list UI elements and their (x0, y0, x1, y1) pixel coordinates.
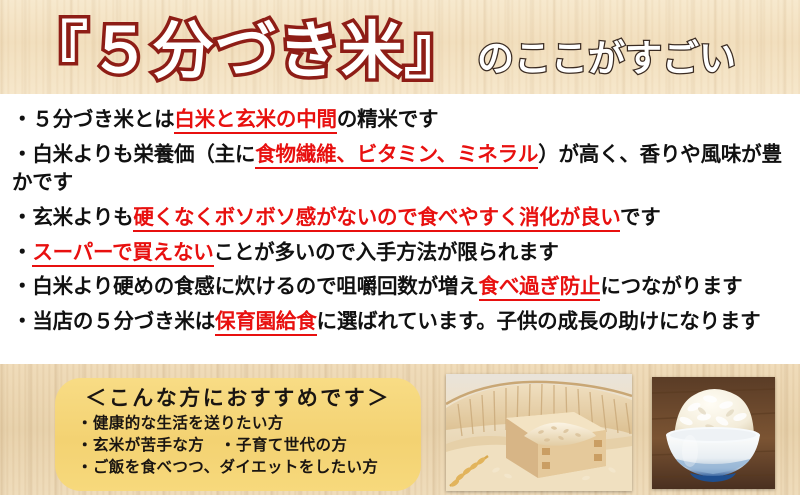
benefit-highlight-text: 食物繊維、ビタミン、ミネラル (255, 142, 538, 169)
benefit-plain-text: につながります (600, 274, 742, 298)
benefit-plain-text: の精米です (337, 107, 439, 131)
recommendation-item-list: ・健康的な生活を送りたい方・玄米が苦手な方 ・子育て世代の方・ご飯を食べつつ、ダ… (61, 412, 415, 478)
infographic-page: 『５分づき米』 のここがすごい ・５分づき米とは白米と玄米の中間の精米です・白米… (0, 0, 800, 495)
benefit-plain-text: です (620, 205, 661, 229)
page-title: 『５分づき米』 のここがすごい (0, 8, 800, 94)
bullet-marker: ・ (12, 309, 32, 333)
recommendation-box: ＜こんな方におすすめです＞ ・健康的な生活を送りたい方・玄米が苦手な方 ・子育て… (55, 378, 421, 491)
benefit-highlight-text: 白米と玄米の中間 (174, 107, 336, 134)
benefit-item: ・玄米よりも硬くなくボソボソ感がないので食べやすく消化が良いです (12, 204, 790, 232)
benefit-highlight-text: 食べ過ぎ防止 (479, 274, 601, 301)
benefit-plain-text: 白米よりも栄養価（主に (32, 142, 255, 166)
title-main-text: 『５分づき米』 (26, 20, 467, 82)
bullet-marker: ・ (12, 274, 32, 298)
benefits-list: ・５分づき米とは白米と玄米の中間の精米です・白米よりも栄養価（主に食物繊維、ビタ… (0, 100, 800, 364)
benefit-plain-text: ことが多いので入手方法が限られます (214, 240, 559, 264)
bullet-marker: ・ (12, 107, 32, 131)
title-sub-text: のここがすごい (477, 40, 736, 77)
benefit-item: ・当店の５分づき米は保育園給食に選ばれています。子供の成長の助けになります (12, 308, 790, 336)
benefit-plain-text: 当店の５分づき米は (32, 309, 215, 333)
benefit-plain-text: 白米より硬めの食感に炊けるので咀嚼回数が増え (32, 274, 478, 298)
bullet-marker: ・ (12, 240, 32, 264)
benefit-item: ・白米よりも栄養価（主に食物繊維、ビタミン、ミネラル）が高く、香りや風味が豊かで… (12, 141, 790, 197)
benefit-item: ・スーパーで買えないことが多いので入手方法が限られます (12, 239, 790, 267)
benefit-highlight-text: スーパーで買えない (32, 240, 213, 267)
recommendation-item: ・玄米が苦手な方 ・子育て世代の方 (61, 434, 415, 456)
benefit-highlight-text: 保育園給食 (215, 309, 317, 336)
recommendation-item: ・健康的な生活を送りたい方 (61, 412, 415, 434)
benefit-plain-text: 玄米よりも (32, 205, 133, 229)
recommendation-title: ＜こんな方におすすめです＞ (61, 384, 415, 412)
benefit-item: ・５分づき米とは白米と玄米の中間の精米です (12, 106, 790, 134)
recommendation-item: ・ご飯を食べつつ、ダイエットをしたい方 (61, 456, 415, 478)
benefit-highlight-text: 硬くなくボソボソ感がないので食べやすく消化が良い (133, 205, 620, 232)
benefit-item: ・白米より硬めの食感に炊けるので咀嚼回数が増え食べ過ぎ防止につながります (12, 273, 790, 301)
rice-bowl-illustration (652, 377, 775, 489)
masu-box-with-rice-photo (446, 374, 632, 491)
benefit-plain-text: ５分づき米とは (32, 107, 174, 131)
cooked-rice-bowl-photo (652, 377, 775, 489)
benefit-plain-text: に選ばれています。子供の成長の助けになります (317, 309, 761, 333)
masu-photo-illustration (446, 374, 632, 491)
bullet-marker: ・ (12, 142, 32, 166)
bullet-marker: ・ (12, 205, 32, 229)
